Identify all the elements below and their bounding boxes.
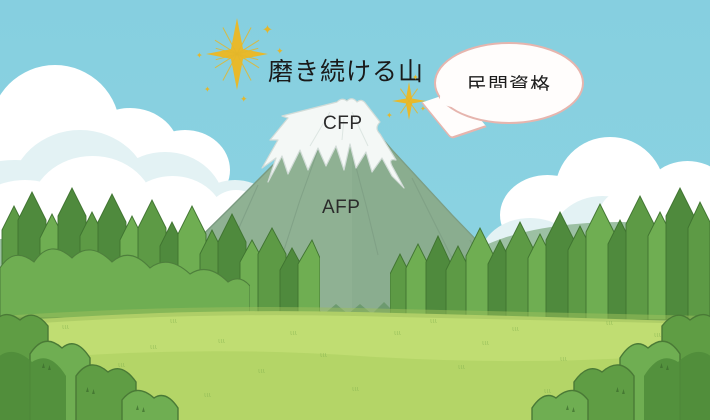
grass-tuft: ιιι	[258, 368, 265, 375]
sparkle-mini: ✦	[412, 72, 419, 83]
label-cfp: CFP	[323, 113, 363, 135]
grass-tuft: ιιι	[218, 338, 225, 345]
grass-tuft: ιιι	[482, 340, 489, 347]
speech-bubble: 民間資格	[434, 42, 584, 124]
bushes-foreground-left	[0, 306, 200, 420]
bushes-foreground-right	[510, 306, 710, 420]
speech-bubble-seam	[440, 88, 560, 110]
sparkle-mini: ✦	[240, 94, 248, 105]
sparkle-mini: ✦	[276, 46, 284, 57]
sparkle-mini: ✦	[386, 110, 393, 121]
sparkle-star-large	[206, 18, 268, 90]
grass-tuft: ιιι	[458, 364, 465, 371]
grass-tuft: ιιι	[290, 330, 297, 337]
grass-tuft: ιιι	[394, 330, 401, 337]
treeline-right	[390, 170, 710, 320]
illustration-scene: CFP AFP	[0, 0, 710, 420]
grass-tuft: ιιι	[352, 386, 359, 393]
sparkle-mini: ✦	[204, 84, 211, 95]
sparkle-mini: ✦	[420, 104, 426, 115]
grass-tuft: ιιι	[320, 352, 327, 359]
sparkle-mini: ✦	[262, 24, 273, 35]
label-afp: AFP	[322, 197, 360, 219]
sparkle-mini: ✦	[196, 50, 203, 61]
grass-tuft: ιιι	[430, 318, 437, 325]
grass-tuft: ιιι	[204, 392, 211, 399]
